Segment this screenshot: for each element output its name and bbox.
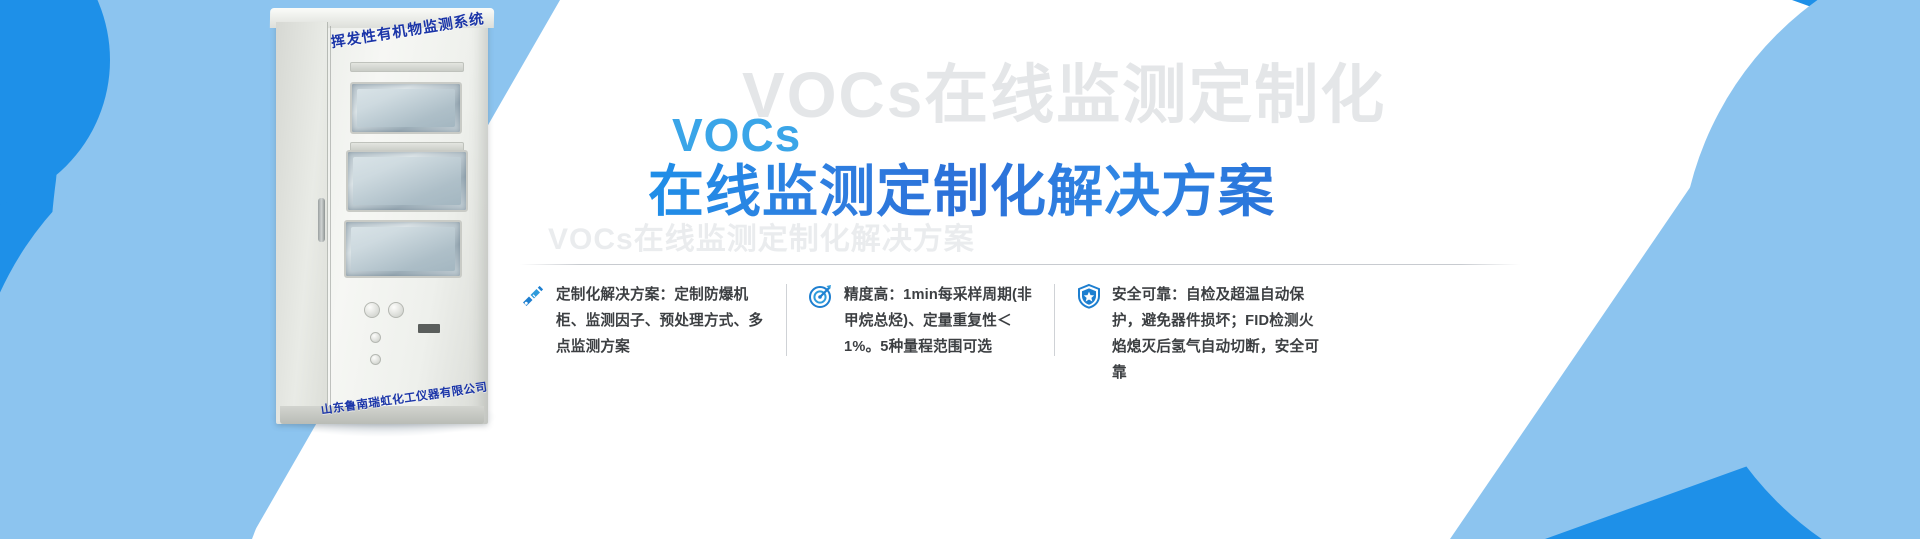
cabinet-display-3 — [344, 220, 462, 278]
shield-star-icon — [1076, 283, 1102, 309]
cabinet-display-1 — [350, 82, 462, 134]
section-divider — [520, 264, 1520, 265]
headline-title: 在线监测定制化解决方案 — [648, 162, 1275, 222]
cabinet-knob — [370, 332, 381, 343]
cabinet-knob — [364, 302, 380, 318]
feature-text: 精度高：1min每采样周期(非甲烷总烃)、定量重复性＜1%。5种量程范围可选 — [844, 282, 1036, 360]
display-glass — [351, 227, 455, 271]
cabinet-vent-slot — [350, 62, 464, 72]
promo-banner: VOCs在线监测定制化 VOCs在线监测定制化解决方案 挥发性有机物监测系统 山… — [0, 0, 1920, 539]
bg-shape-bottom-left — [0, 497, 268, 539]
target-arrow-icon — [808, 283, 834, 309]
cabinet-knob — [388, 302, 404, 318]
display-glass — [357, 89, 455, 127]
cabinet-door-handle — [318, 198, 325, 242]
cabinet-knob — [370, 354, 381, 365]
cabinet-display-2 — [346, 150, 468, 212]
feature-text: 定制化解决方案：定制防爆机柜、监测因子、预处理方式、多点监测方案 — [556, 282, 768, 360]
feature-text: 安全可靠：自检及超温自动保护，避免器件损坏；FID检测火焰熄灭后氢气自动切断，安… — [1112, 282, 1326, 386]
feature-item-high-precision: 精度高：1min每采样周期(非甲烷总烃)、定量重复性＜1%。5种量程范围可选 — [786, 282, 1054, 386]
product-image-voc-cabinet: 挥发性有机物监测系统 山东鲁南瑞虹化工仪器有限公司 — [258, 2, 508, 434]
headline-group: VOCs 在线监测定制化解决方案 — [672, 112, 1275, 222]
pencil-ruler-icon — [520, 283, 546, 309]
cabinet-indicator-panel — [418, 324, 440, 333]
feature-item-custom-solution: 定制化解决方案：定制防爆机柜、监测因子、预处理方式、多点监测方案 — [520, 282, 786, 386]
cabinet-door-seam — [330, 26, 331, 418]
display-glass — [353, 157, 461, 205]
feature-item-safe-reliable: 安全可靠：自检及超温自动保护，避免器件损坏；FID检测火焰熄灭后氢气自动切断，安… — [1054, 282, 1344, 386]
feature-list: 定制化解决方案：定制防爆机柜、监测因子、预处理方式、多点监测方案 精度高：1mi… — [520, 282, 1530, 386]
headline-eyebrow: VOCs — [672, 112, 1275, 158]
